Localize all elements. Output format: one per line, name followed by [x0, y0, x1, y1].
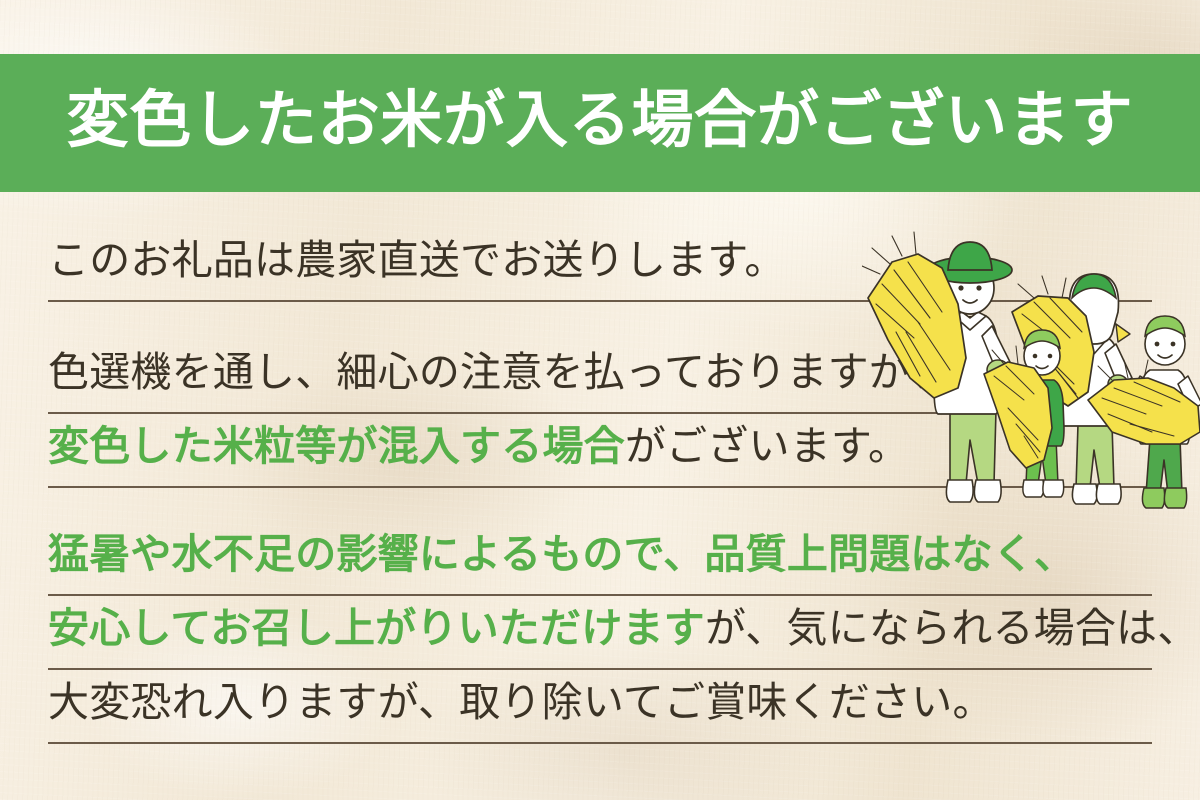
text-line: このお礼品は農家直送でお送りします。: [48, 228, 1152, 302]
line-segment: このお礼品は農家直送でお送りします。: [48, 239, 786, 288]
line-segment-highlight: 猛暑や水不足の影響によるもので、品質上問題はなく、: [48, 533, 1075, 582]
text-block-delivery-note: このお礼品は農家直送でお送りします。: [48, 228, 1152, 302]
text-line: 安心してお召し上がりいただけます が、気になられる場合は、: [48, 596, 1152, 670]
text-block-quality-note: 猛暑や水不足の影響によるもので、品質上問題はなく、 安心してお召し上がりいただけ…: [48, 522, 1152, 744]
line-segment: 大変恐れ入りますが、取り除いてご賞味ください。: [48, 681, 994, 730]
text-line: 猛暑や水不足の影響によるもので、品質上問題はなく、: [48, 522, 1152, 596]
text-line: 大変恐れ入りますが、取り除いてご賞味ください。: [48, 670, 1152, 744]
line-segment-highlight: 安心してお召し上がりいただけます: [48, 607, 705, 656]
text-line: 色選機を通し、細心の注意を払っておりますが、: [48, 340, 1152, 414]
header-banner: 変色したお米が入る場合がございます: [0, 54, 1200, 192]
text-block-sorting-note: 色選機を通し、細心の注意を払っておりますが、 変色した米粒等が混入する場合 がご…: [48, 340, 1152, 488]
text-line: 変色した米粒等が混入する場合 がございます。: [48, 414, 1152, 488]
line-segment: 色選機を通し、細心の注意を払っておりますが、: [48, 351, 950, 400]
page-title: 変色したお米が入る場合がございます: [67, 90, 1134, 156]
line-segment: がございます。: [625, 425, 909, 474]
line-segment-highlight: 変色した米粒等が混入する場合: [48, 425, 625, 474]
promotional-banner: 変色したお米が入る場合がございます このお礼品は農家直送でお送りします。 色選機…: [0, 0, 1200, 800]
line-segment: が、気になられる場合は、: [705, 607, 1199, 656]
body-content: このお礼品は農家直送でお送りします。 色選機を通し、細心の注意を払っておりますが…: [0, 192, 1200, 800]
